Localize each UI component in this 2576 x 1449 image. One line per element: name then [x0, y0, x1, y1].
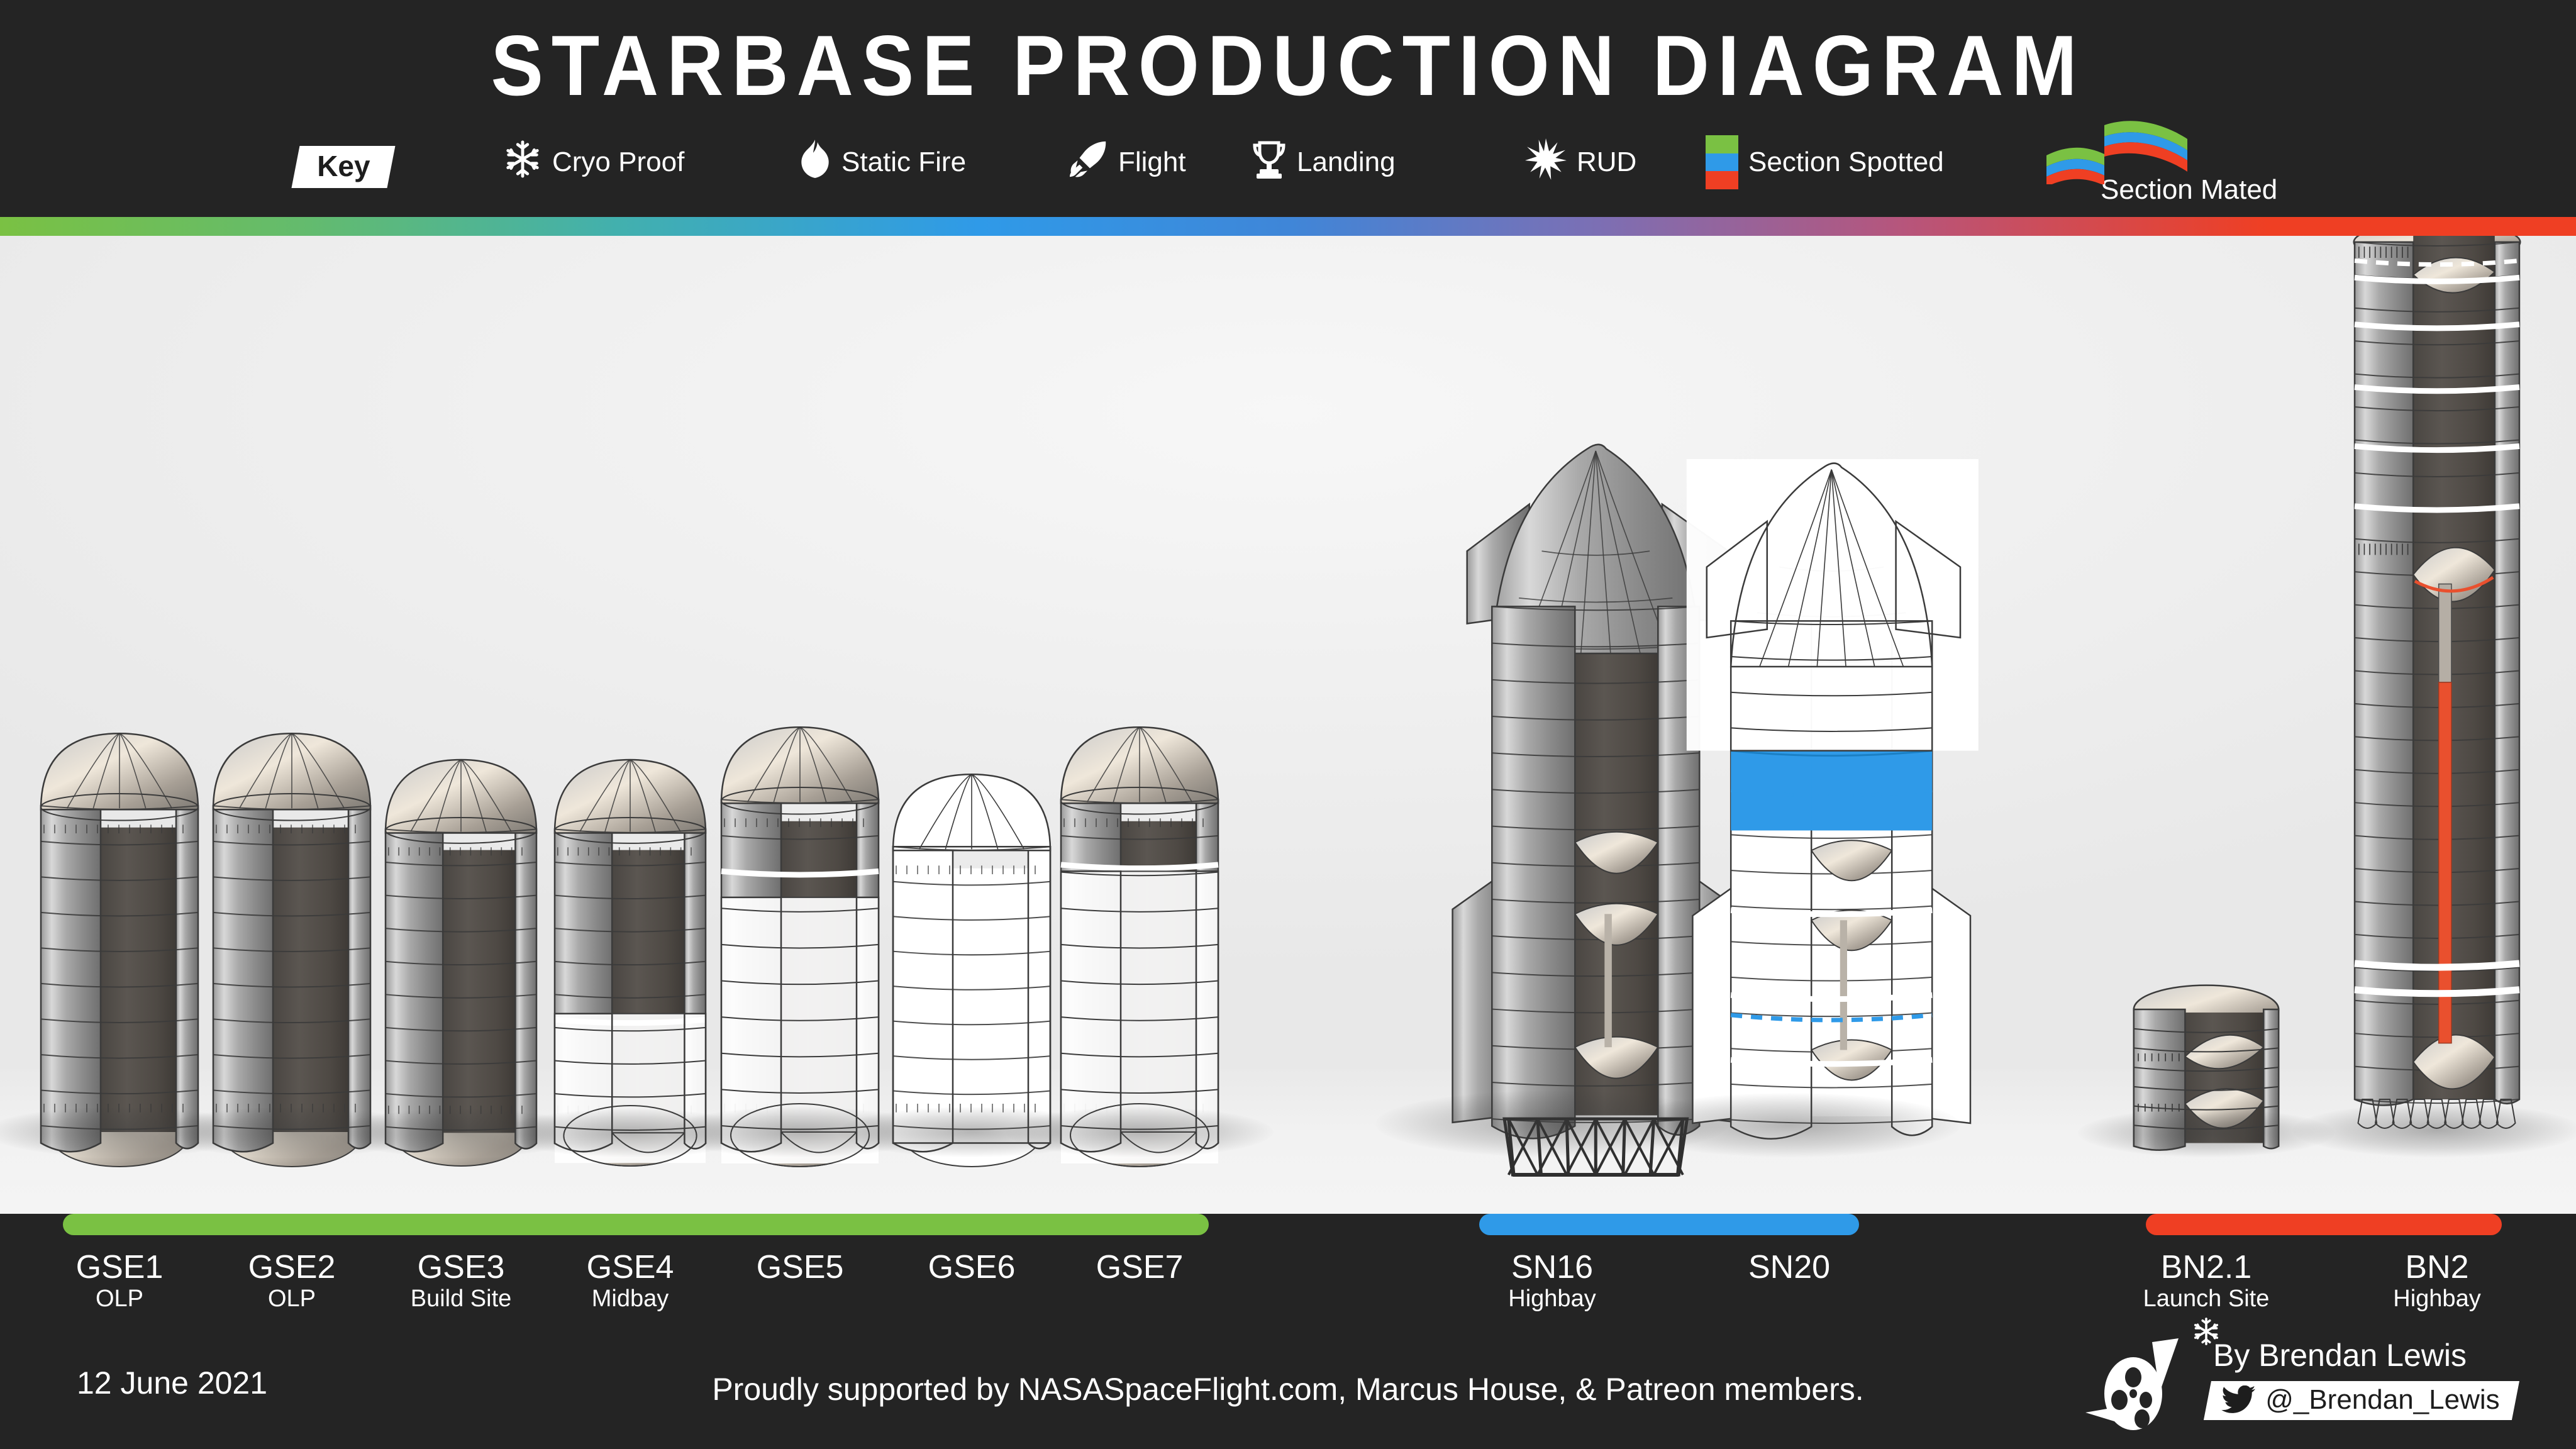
legend-label-flight: Flight — [1118, 148, 1186, 176]
legend-item-section-spotted[interactable]: Section Spotted — [1706, 135, 1944, 189]
legend-label-section-spotted: Section Spotted — [1748, 148, 1944, 176]
group-bar-starship — [1479, 1214, 1859, 1235]
legend-item-rud[interactable]: RUD — [1525, 135, 1636, 189]
vehicle-gse1[interactable] — [41, 761, 198, 1151]
vehicle-shadow — [1006, 1107, 1274, 1157]
legend-item-flight[interactable]: Flight — [1069, 135, 1186, 189]
trophy-icon — [1252, 139, 1287, 186]
vehicle-shadow — [1618, 1093, 1960, 1157]
twitter-badge[interactable]: @_Brendan_Lewis — [2204, 1381, 2519, 1420]
label-sn20: SN20 — [1651, 1249, 1928, 1285]
twitter-bird-icon — [2221, 1385, 2255, 1414]
flame-icon — [799, 139, 831, 186]
page-title: STARBASE PRODUCTION DIAGRAM — [103, 23, 2473, 108]
rocket-icon — [1069, 140, 1108, 186]
label-sn16: SN16Highbay — [1414, 1249, 1690, 1313]
legend-item-cryo-proof[interactable]: Cryo Proof — [503, 135, 684, 189]
legend-item-static-fire[interactable]: Static Fire — [799, 135, 966, 189]
vehicle-location: Highbay — [1414, 1285, 1690, 1313]
label-bn2: BN2Highbay — [2299, 1249, 2575, 1313]
vehicle-gse7[interactable] — [1061, 755, 1218, 1151]
vehicle-bn21[interactable] — [2131, 994, 2282, 1151]
snowflake-icon — [503, 140, 542, 186]
vehicle-location: Midbay — [492, 1285, 769, 1313]
legend-item-landing[interactable]: Landing — [1252, 135, 1396, 189]
vehicle-name: BN2 — [2299, 1249, 2575, 1285]
header-bar: STARBASE PRODUCTION DIAGRAM Key — [0, 0, 2576, 217]
label-gse7: GSE7 — [1001, 1249, 1278, 1285]
section-spotted-icon — [1706, 135, 1738, 189]
legend-label-rud: RUD — [1577, 148, 1636, 176]
legend-label-landing: Landing — [1297, 148, 1396, 176]
author-name: By Brendan Lewis — [2213, 1337, 2467, 1374]
vehicle-gse3[interactable] — [386, 786, 536, 1151]
vehicle-name: SN16 — [1414, 1249, 1690, 1285]
group-bar-booster — [2146, 1214, 2502, 1235]
starburst-icon — [1525, 138, 1567, 187]
header-gradient-strip — [0, 217, 2576, 236]
author-block: By Brendan Lewis @_Brendan_Lewis — [2084, 1335, 2550, 1435]
vehicle-gse2[interactable] — [213, 761, 370, 1151]
vehicle-gse5[interactable] — [721, 755, 879, 1151]
vehicle-sn20[interactable] — [1689, 459, 1890, 1151]
vehicle-name: SN20 — [1651, 1249, 1928, 1285]
group-bar-gse — [63, 1214, 1209, 1235]
vehicle-name: GSE7 — [1001, 1249, 1278, 1285]
vehicle-sn16[interactable] — [1448, 440, 1656, 1151]
film-reel-icon — [2084, 1338, 2204, 1433]
legend-label-static-fire: Static Fire — [841, 148, 966, 176]
vehicle-bn2[interactable] — [2352, 236, 2522, 1151]
vehicle-location: Highbay — [2299, 1285, 2575, 1313]
section-mated-icon — [2041, 116, 2199, 184]
vehicle-shadow — [2293, 1103, 2576, 1157]
twitter-handle: @_Brendan_Lewis — [2265, 1385, 2499, 1415]
diagram-stage — [0, 236, 2576, 1214]
vehicle-gse6[interactable] — [893, 802, 1050, 1151]
legend-label-cryo-proof: Cryo Proof — [552, 148, 684, 176]
vehicle-gse4[interactable] — [555, 786, 706, 1151]
